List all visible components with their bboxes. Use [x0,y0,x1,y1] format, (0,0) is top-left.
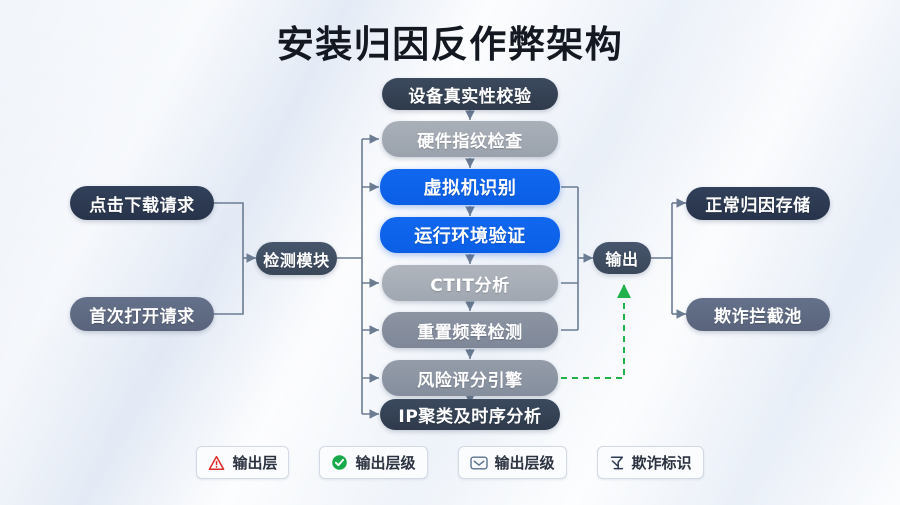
pipeline-node-hardware-fingerprint[interactable]: 硬件指纹检查 [382,121,558,157]
input-node-1-label: 点击下载请求 [89,191,195,216]
detection-module-label: 检测模块 [263,247,329,271]
check-circle-icon [331,454,348,471]
legend-item-2-label: 输出层级 [495,452,555,473]
pipeline-node-ctit-analysis[interactable]: CTIT分析 [382,265,558,301]
output-node-label: 输出 [605,246,638,270]
input-node-2-label: 首次打开请求 [89,302,195,327]
pipeline-node-vm-detection[interactable]: 虚拟机识别 [380,169,560,205]
legend-item-3-label: 欺诈标识 [632,452,692,473]
pipeline-node-5-label: 重置频率检测 [417,318,523,343]
page-title: 安装归因反作弊架构 [0,14,900,68]
detection-module-node[interactable]: 检测模块 [256,242,337,275]
pipeline-node-runtime-verify[interactable]: 运行环境验证 [380,217,560,253]
legend-item-fraud[interactable]: 欺诈标识 [597,446,704,479]
pipeline-node-1-label: 硬件指纹检查 [417,127,523,152]
pipeline-node-risk-scoring[interactable]: 风险评分引擎 [382,360,558,396]
warning-triangle-icon [208,455,225,471]
legend-item-check[interactable]: 输出层级 [319,446,427,479]
legend-item-warning[interactable]: 输出层 [196,446,289,479]
pipeline-node-reset-frequency[interactable]: 重置频率检测 [382,312,558,348]
diagram-canvas: 安装归因反作弊架构 [0,0,900,505]
result-node-normal-attribution[interactable]: 正常归因存储 [686,187,830,220]
legend-item-1-label: 输出层级 [355,452,415,473]
envelope-box-icon [470,455,488,471]
result-node-0-label: 正常归因存储 [705,191,811,216]
pipeline-node-3-label: 运行环境验证 [414,222,526,248]
legend-bar: 输出层 输出层级 输出层级 [0,446,900,479]
pipeline-node-ip-clustering[interactable]: IP聚类及时序分析 [380,399,560,430]
result-node-1-label: 欺诈拦截池 [714,302,802,327]
pipeline-node-7-label: IP聚类及时序分析 [398,402,541,427]
input-node-1[interactable]: 点击下载请求 [70,186,214,220]
pipeline-node-0-label: 设备真实性校验 [408,82,531,107]
input-node-2[interactable]: 首次打开请求 [70,297,214,331]
legend-item-0-label: 输出层 [232,452,277,473]
pipeline-node-6-label: 风险评分引擎 [417,366,523,391]
legend-item-envelope[interactable]: 输出层级 [458,446,567,479]
fraud-mark-icon [609,455,625,471]
pipeline-node-4-label: CTIT分析 [430,271,510,296]
pipeline-node-device-auth[interactable]: 设备真实性校验 [382,78,558,110]
pipeline-node-2-label: 虚拟机识别 [424,174,517,200]
output-node[interactable]: 输出 [593,242,651,274]
result-node-fraud-pool[interactable]: 欺诈拦截池 [686,298,830,331]
